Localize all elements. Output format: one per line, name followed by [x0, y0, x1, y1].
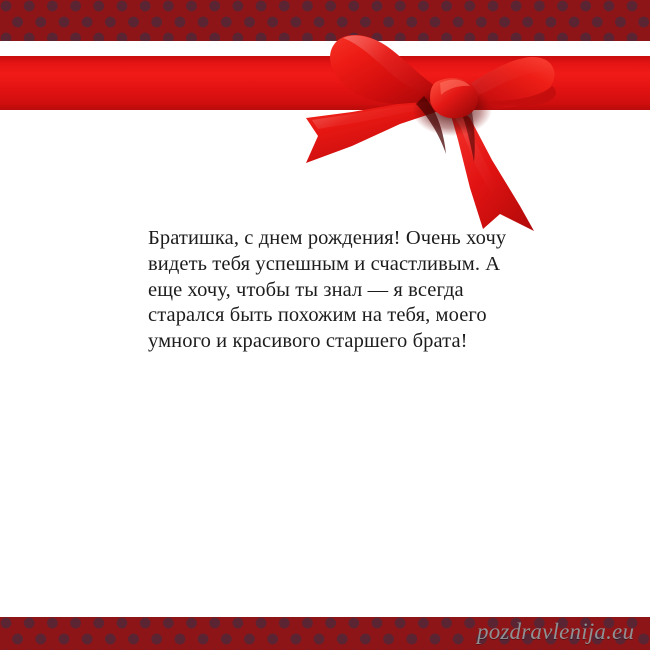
greeting-message: Братишка, с днем рождения! Очень хочу ви… — [148, 226, 520, 355]
ribbon-sash — [0, 56, 650, 110]
bow-tail-right-sheen — [450, 104, 508, 206]
greeting-card: Братишка, с днем рождения! Очень хочу ви… — [0, 0, 650, 650]
bow-tail-right — [450, 102, 534, 231]
site-watermark: pozdravlenija.eu — [477, 618, 634, 645]
top-polka-dot-band — [0, 0, 650, 41]
